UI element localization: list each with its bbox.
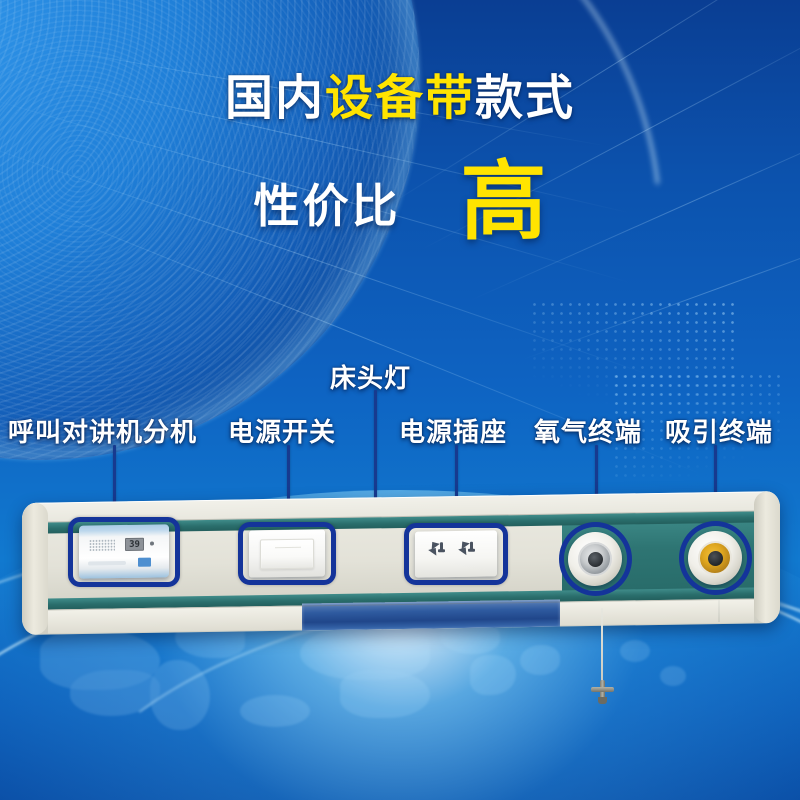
highlight-ellipse-oxygen: [559, 522, 632, 596]
light-ray: [380, 0, 800, 211]
highlight-box-intercom: [68, 517, 180, 587]
pull-cord-handle[interactable]: [590, 680, 614, 704]
light-ray: [0, 60, 633, 214]
panel-end-cap-left: [22, 503, 48, 635]
pull-cord-handle-base: [598, 697, 607, 704]
callout-label-oxygen: 氧气终端: [534, 412, 642, 449]
pull-cord-secondary[interactable]: [718, 600, 720, 622]
callout-label-intercom: 呼叫对讲机分机: [8, 412, 197, 449]
callout-label-bed-lamp: 床头灯: [330, 358, 411, 395]
callout-label-power-switch: 电源开关: [228, 412, 336, 449]
pull-cord-handle-arm: [591, 687, 614, 692]
light-ray: [420, 6, 800, 251]
pull-cord[interactable]: [601, 608, 603, 686]
highlight-box-socket: [404, 523, 508, 585]
callout-label-suction: 吸引终端: [665, 412, 773, 449]
poster-stage: 国内设备带款式 性价比 高 呼叫对讲机分机电源开关床头灯电源插座氧气终端吸引终端…: [0, 0, 800, 800]
highlight-ellipse-suction: [679, 521, 752, 595]
panel-end-cap-right: [754, 491, 780, 623]
highlight-box-switch: [238, 522, 336, 585]
callout-label-power-socket: 电源插座: [399, 412, 507, 449]
light-ray: [0, 35, 610, 147]
